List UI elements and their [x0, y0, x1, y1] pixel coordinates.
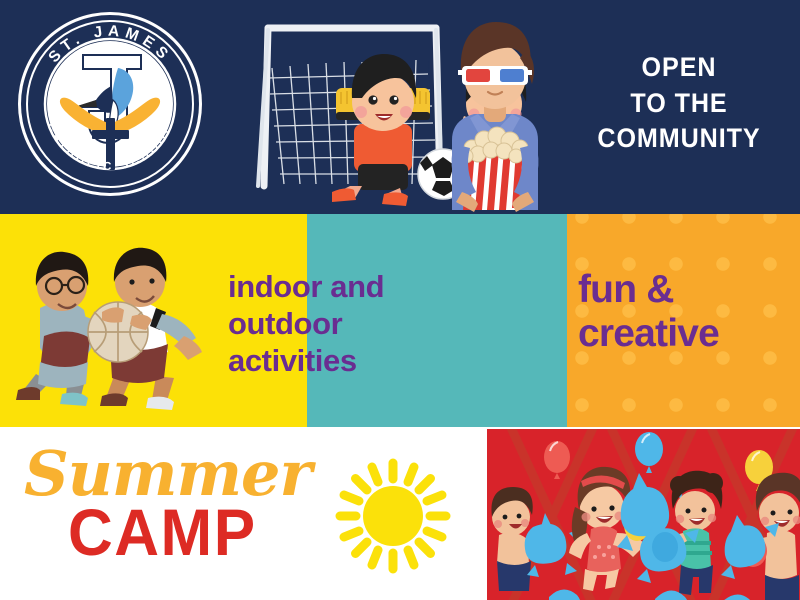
headline-line-1: OPEN — [568, 50, 789, 86]
headline-line-2: TO THE — [568, 86, 789, 122]
summer-camp-poster: ST. JAMES CATHOLIC SCHOOL — [0, 0, 800, 600]
shoe-left — [332, 188, 356, 202]
shoe-right — [382, 192, 408, 206]
fun-creative-line-1: fun & — [578, 268, 800, 312]
activities-text: indoor and outdoor activities — [228, 268, 468, 380]
activities-line-2: outdoor — [228, 305, 468, 342]
black-shorts — [358, 164, 408, 190]
headline-line-3: COMMUNITY — [568, 121, 789, 157]
summer-camp-title: Summer CAMP — [16, 445, 306, 585]
summer-script-word: Summer — [16, 445, 306, 504]
3d-glasses-icon — [458, 66, 532, 85]
fun-creative-line-2: creative — [578, 312, 800, 356]
bottom-band: Summer CAMP — [0, 429, 800, 600]
swimsuit — [587, 526, 621, 573]
boy-with-3d-glasses-and-popcorn — [430, 14, 560, 212]
headline-open-to-the-community: OPEN TO THE COMMUNITY — [568, 50, 789, 157]
activities-line-1: indoor and — [228, 268, 468, 305]
fun-creative-text: fun & creative — [578, 268, 800, 355]
sun-icon — [318, 447, 468, 585]
activities-line-3: activities — [228, 342, 468, 379]
hero-banner: ST. JAMES CATHOLIC SCHOOL — [0, 0, 800, 212]
basketball-players-illustration — [6, 224, 221, 420]
school-logo: ST. JAMES CATHOLIC SCHOOL — [14, 8, 206, 200]
camp-block-word: CAMP — [16, 500, 306, 567]
kids-water-balloon-fight-illustration — [487, 429, 800, 600]
